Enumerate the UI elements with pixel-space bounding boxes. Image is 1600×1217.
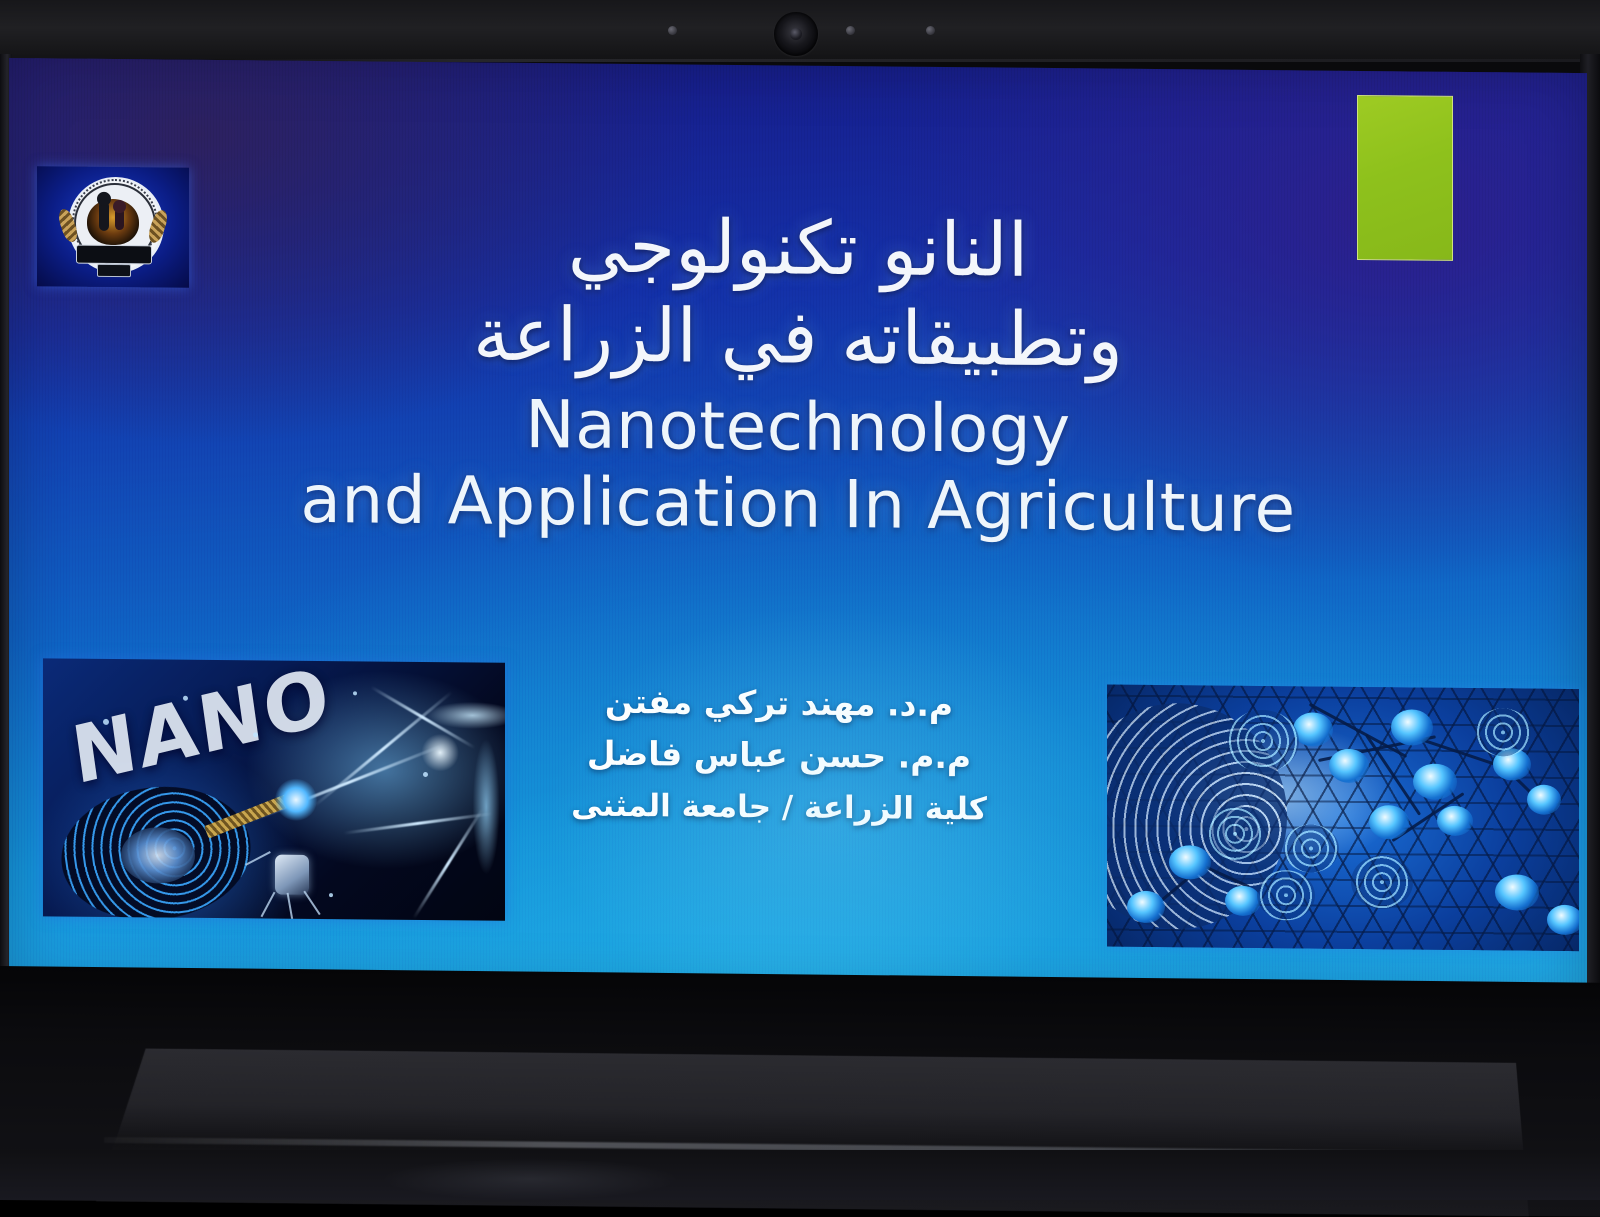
- energy-burst-icon: [275, 779, 317, 821]
- particle-dot: [253, 732, 258, 737]
- molecule-node: [1495, 874, 1539, 910]
- title-english-line2: and Application In Agriculture: [9, 458, 1587, 551]
- molecule-cluster: [1203, 805, 1267, 862]
- nanotube-core: [121, 827, 195, 884]
- webcam-icon: [774, 12, 818, 56]
- author-block: م.د. مهند تركي مفتن م.م. حسن عباس فاضل ك…: [449, 674, 1109, 836]
- presentation-slide: النانو تكنولوجي وتطبيقاته في الزراعة Nan…: [9, 58, 1587, 1003]
- title-arabic-line1: النانو تكنولوجي: [9, 198, 1587, 299]
- molecule-node: [1293, 712, 1333, 746]
- molecule-node: [1225, 886, 1261, 916]
- molecule-cluster: [1257, 870, 1315, 921]
- author-name-1: م.د. مهند تركي مفتن: [449, 674, 1109, 732]
- sensor-dot-icon: [668, 26, 677, 35]
- molecular-network-illustration: [1107, 685, 1579, 952]
- particle-dot: [103, 719, 109, 725]
- molecule-node: [1169, 845, 1211, 879]
- particle-dot: [423, 772, 428, 777]
- nano-illustration: NANO: [43, 658, 505, 920]
- author-name-2: م.م. حسن عباس فاضل: [449, 726, 1109, 784]
- particle-dot: [329, 893, 333, 897]
- molecule-node: [1437, 806, 1473, 836]
- laptop-device: النانو تكنولوجي وتطبيقاته في الزراعة Nan…: [0, 0, 1600, 1200]
- particle-dot: [353, 691, 357, 695]
- molecule-cluster: [1283, 824, 1339, 873]
- molecule-cluster: [1351, 855, 1413, 910]
- sensor-dot-icon: [926, 26, 935, 35]
- molecule-node: [1391, 709, 1433, 745]
- molecule-cluster: [1227, 710, 1299, 773]
- molecule-cluster: [1475, 708, 1531, 757]
- author-affiliation: كلية الزراعة / جامعة المثنى: [449, 778, 1109, 836]
- molecule-node: [1127, 891, 1165, 923]
- screen-bezel-top: [0, 0, 1600, 62]
- nanobot-leg: [261, 892, 276, 918]
- molecule-node: [1329, 749, 1369, 783]
- desk-reflection: [380, 1158, 680, 1200]
- sensor-dot-icon: [846, 26, 855, 35]
- particle-dot: [183, 696, 188, 701]
- molecule-node: [1369, 805, 1409, 839]
- molecule-node: [1413, 763, 1457, 799]
- molecule-node: [1547, 905, 1579, 935]
- laptop-screen: النانو تكنولوجي وتطبيقاته في الزراعة Nan…: [9, 58, 1587, 1003]
- nanobot-icon: [275, 855, 309, 895]
- slide-title-block: النانو تكنولوجي وتطبيقاته في الزراعة Nan…: [9, 198, 1587, 551]
- title-arabic-line2: وتطبيقاته في الزراعة: [9, 284, 1587, 391]
- desk-surface: [0, 1150, 1600, 1200]
- molecule-node: [1527, 785, 1561, 815]
